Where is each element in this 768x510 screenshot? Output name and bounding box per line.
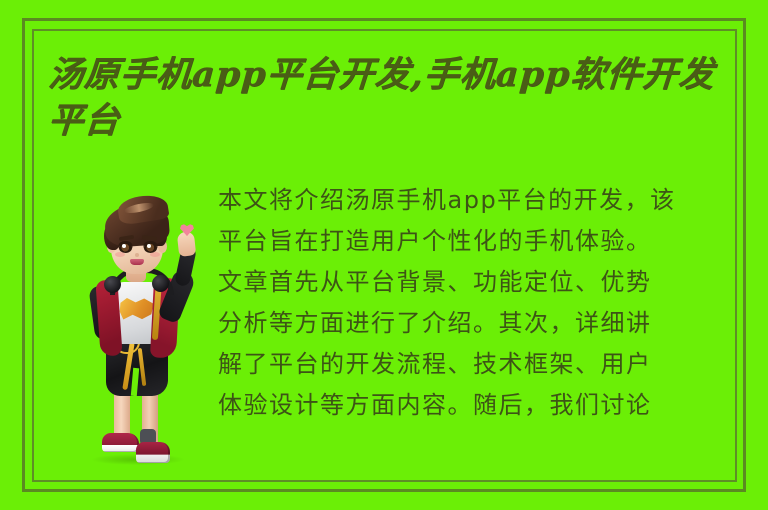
headphone-right-cup-icon [152, 275, 169, 292]
body-line: 本文将介绍汤原手机app平台的开发，该 [218, 180, 732, 221]
title-line-2: 平台 [46, 98, 739, 144]
mouth [130, 259, 144, 265]
chibi-character-illustration [66, 186, 206, 468]
right-eye-highlight [147, 244, 151, 248]
right-sneaker-icon [136, 442, 170, 463]
title-line-1: 汤原手机app平台开发,手机app软件开发 [46, 52, 739, 98]
body-line: 平台旨在打造用户个性化的手机体验。 [218, 221, 732, 262]
headphone-left-cup-icon [104, 276, 121, 293]
left-sneaker-icon [102, 433, 139, 452]
page-title: 汤原手机app平台开发,手机app软件开发 平台 [48, 52, 738, 144]
left-eye-highlight [122, 244, 126, 248]
nose [135, 253, 139, 257]
article-body-text: 本文将介绍汤原手机app平台的开发，该 平台旨在打造用户个性化的手机体验。 文章… [218, 180, 732, 426]
body-line: 解了平台的开发流程、技术框架、用户 [218, 344, 732, 385]
body-line: 文章首先从平台背景、功能定位、优势 [218, 262, 732, 303]
body-line: 体验设计等方面内容。随后，我们讨论 [218, 385, 732, 426]
article-banner: 汤原手机app平台开发,手机app软件开发 平台 [0, 0, 768, 510]
body-line: 分析等方面进行了介绍。其次，详细讲 [218, 303, 732, 344]
